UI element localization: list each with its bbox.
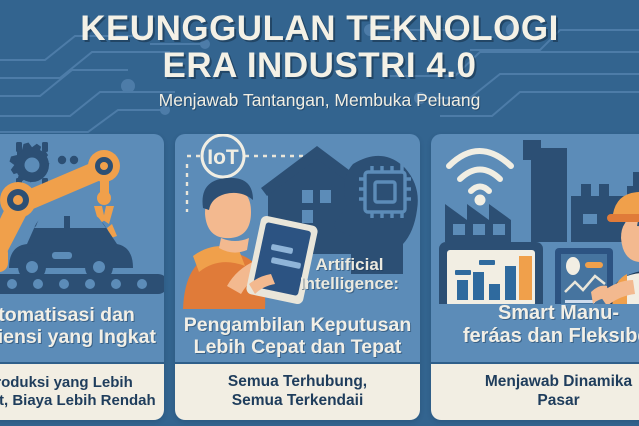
panel-caption-line2: Cepat, Biaya Lebih Rendah	[0, 392, 156, 410]
panel-row: Otomatisasi dan Efisiensi yang Ingkat Pr…	[0, 134, 639, 426]
bar-chart-highlight-icon	[519, 256, 532, 300]
svg-text:IoT: IoT	[207, 146, 239, 169]
wifi-dot-icon	[475, 195, 486, 206]
title-block: KEUNGGULAN TEKNOLOGI ERA INDUSTRI 4.0 Me…	[0, 10, 639, 111]
panel-caption-line1: Menjawab Dinamika	[485, 373, 632, 392]
panel-caption-line2: Semua Terkendaii	[228, 392, 367, 411]
dot-icon	[70, 156, 78, 164]
panel-caption: Produksi yang Lebih Cepat, Biaya Lebih R…	[0, 362, 164, 420]
panel-caption-line2: Pasar	[485, 392, 632, 411]
panel-headline-line1: Otomatisasi dan	[0, 304, 164, 326]
monitor-chart-icon	[439, 242, 543, 304]
panel-otomatisasi[interactable]: Otomatisasi dan Efisiensi yang Ingkat Pr…	[0, 134, 164, 420]
gear-icon	[10, 142, 50, 188]
page-title-line2: ERA INDUSTRI 4.0	[0, 47, 639, 84]
page-subtitle: Menjawab Tantangan, Membuka Peluang	[0, 90, 639, 111]
panel-caption-line1: Produksi yang Lebih	[0, 374, 156, 392]
car-door-icon	[52, 252, 72, 259]
panel-caption: Semua Terhubung, Semua Terkendaii	[175, 362, 420, 420]
iot-badge-icon: IoT	[202, 135, 244, 177]
panel-headline-line2: feráas dan Fleksıbel	[431, 325, 639, 348]
panel-headline-line1: Smart Manu-	[431, 302, 639, 325]
panel-headline: Otomatisasi dan Efisiensi yang Ingkat	[0, 304, 164, 348]
panel-iot-ai[interactable]: IoT	[175, 134, 420, 420]
smart-factory-illustration	[431, 134, 639, 304]
panel-caption-line1: Semua Terhubung,	[228, 373, 367, 392]
panel-headline-line1: Pengambilan Keputusan	[175, 314, 420, 336]
ai-overlay-line2: Intelligence:	[287, 275, 412, 294]
panel-smart-manufacturing[interactable]: Smart Manu- feráas dan Fleksıbel Menjawa…	[431, 134, 639, 420]
panel-headline: Pengambilan Keputusan Lebih Cepat dan Te…	[175, 314, 420, 358]
panel-headline-line2: Lebih Cepat dan Tepat	[175, 336, 420, 358]
ai-overlay-label: Artificial Intelligence:	[287, 256, 412, 293]
page-title-line1: KEUNGGULAN TEKNOLOGI	[0, 10, 639, 47]
ai-overlay-line1: Artificial	[287, 256, 412, 275]
car-window-icon	[34, 214, 64, 228]
conveyor-belt-icon	[0, 274, 164, 294]
robot-arm-illustration	[0, 134, 164, 299]
header-banner: KEUNGGULAN TEKNOLOGI ERA INDUSTRI 4.0 Me…	[0, 0, 639, 136]
panel-headline-line2: Efisiensi yang Ingkat	[0, 326, 164, 348]
infographic-canvas: KEUNGGULAN TEKNOLOGI ERA INDUSTRI 4.0 Me…	[0, 0, 639, 426]
panel-headline: Smart Manu- feráas dan Fleksıbel	[431, 302, 639, 347]
dot-icon	[58, 156, 66, 164]
wifi-icon	[449, 151, 511, 191]
panel-caption: Menjawab Dinamika Pasar	[431, 362, 639, 420]
